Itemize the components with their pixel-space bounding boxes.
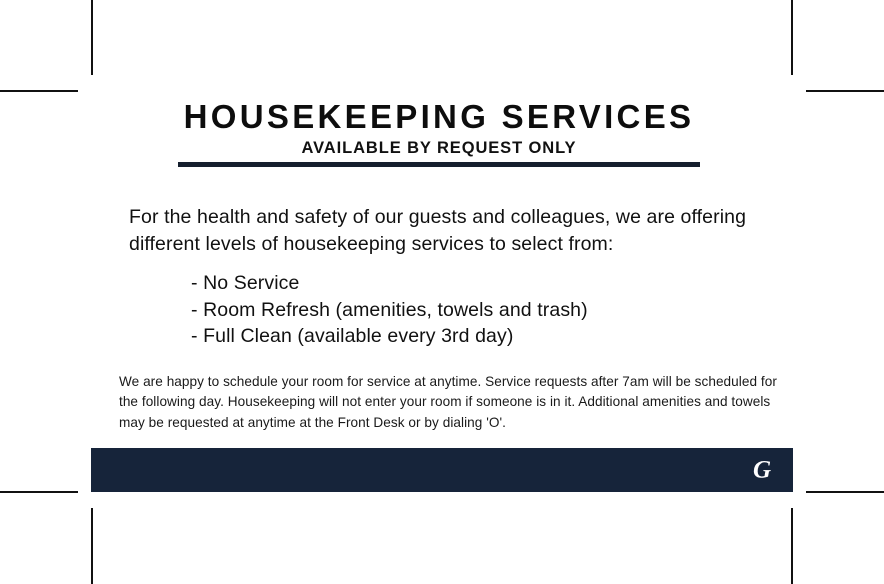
crop-mark-top-left-horizontal <box>0 90 78 92</box>
crop-mark-top-left-vertical <box>91 0 93 75</box>
crop-mark-top-right-horizontal <box>806 90 884 92</box>
crop-mark-top-right-vertical <box>791 0 793 75</box>
page-title: HOUSEKEEPING SERVICES <box>178 100 700 135</box>
fineprint-paragraph: We are happy to schedule your room for s… <box>119 372 779 434</box>
crop-mark-bottom-left-horizontal <box>0 491 78 493</box>
crop-mark-bottom-right-vertical <box>791 508 793 584</box>
list-item: - Room Refresh (amenities, towels and tr… <box>191 297 761 324</box>
page-subtitle: AVAILABLE BY REQUEST ONLY <box>178 139 700 158</box>
footer-bar: G <box>91 448 793 492</box>
list-item: - Full Clean (available every 3rd day) <box>191 323 761 350</box>
script-g-monogram-icon: G <box>753 458 771 483</box>
printed-sheet: HOUSEKEEPING SERVICES AVAILABLE BY REQUE… <box>91 90 793 492</box>
crop-mark-bottom-left-vertical <box>91 508 93 584</box>
list-item: - No Service <box>191 270 761 297</box>
crop-mark-bottom-right-horizontal <box>806 491 884 493</box>
intro-paragraph: For the health and safety of our guests … <box>129 204 769 258</box>
title-block: HOUSEKEEPING SERVICES AVAILABLE BY REQUE… <box>178 100 700 167</box>
service-options-list: - No Service - Room Refresh (amenities, … <box>191 270 761 350</box>
title-divider-rule <box>178 162 700 167</box>
